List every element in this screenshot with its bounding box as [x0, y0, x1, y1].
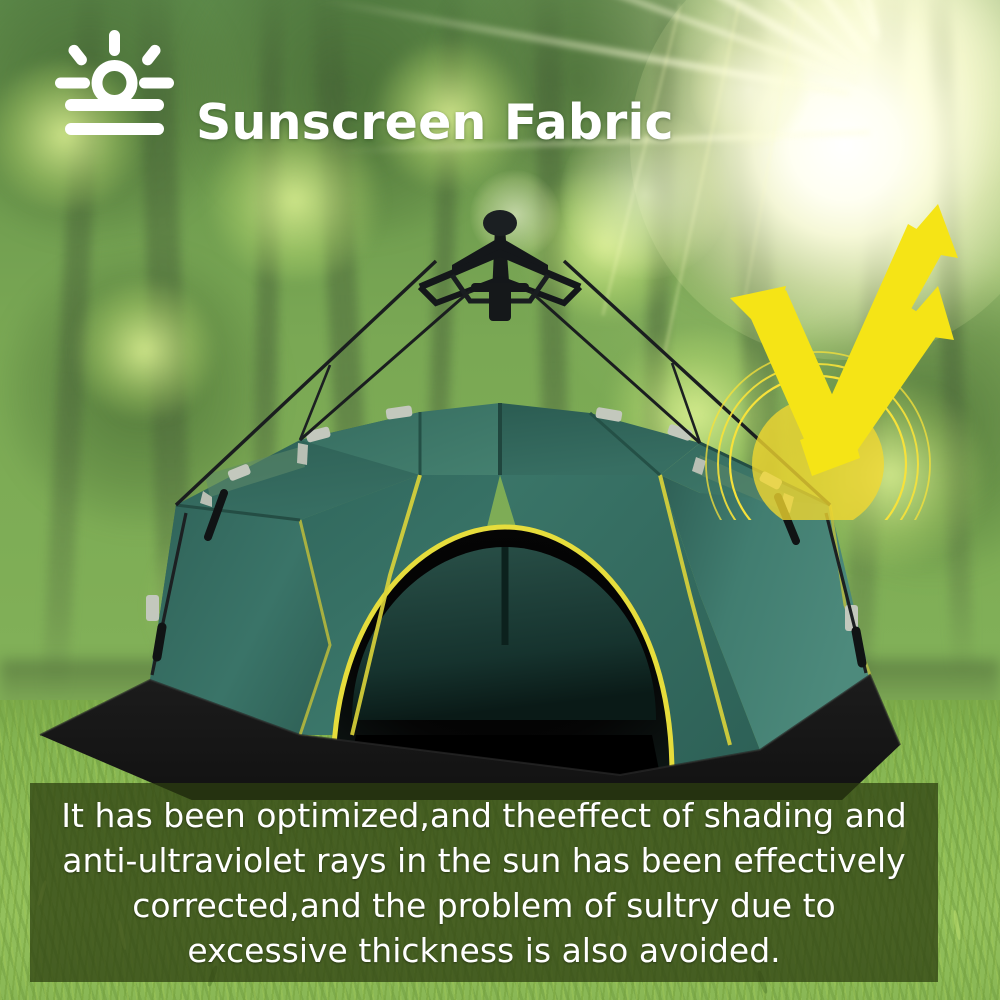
tent-edge-tab	[146, 595, 159, 621]
caption-line-2: anti-ultraviolet rays in the sun has bee…	[36, 838, 932, 883]
header: Sunscreen Fabric	[0, 0, 1000, 180]
uv-arrows-svg	[700, 190, 1000, 520]
page-title: Sunscreen Fabric	[196, 94, 674, 151]
caption-line-1: It has been optimized,and theeffect of s…	[36, 793, 932, 838]
caption-text: It has been optimized,and theeffect of s…	[30, 793, 938, 973]
uv-reflection-graphic	[700, 190, 1000, 520]
caption-panel: It has been optimized,and theeffect of s…	[30, 783, 938, 982]
tent-apex-hub	[420, 210, 580, 321]
tent-vent-tab	[297, 443, 308, 465]
caption-line-3: corrected,and the problem of sultry due …	[36, 883, 932, 928]
product-marketing-image: Sunscreen Fabric It has been optimized,a…	[0, 0, 1000, 1000]
sun-horizon-icon-svg	[47, 29, 182, 147]
tent-buckle	[157, 627, 162, 657]
tent-buckle	[856, 631, 862, 663]
sun-horizon-icon	[47, 29, 182, 147]
caption-line-4: excessive thickness is also avoided.	[36, 928, 932, 973]
grass-blade	[953, 910, 962, 940]
